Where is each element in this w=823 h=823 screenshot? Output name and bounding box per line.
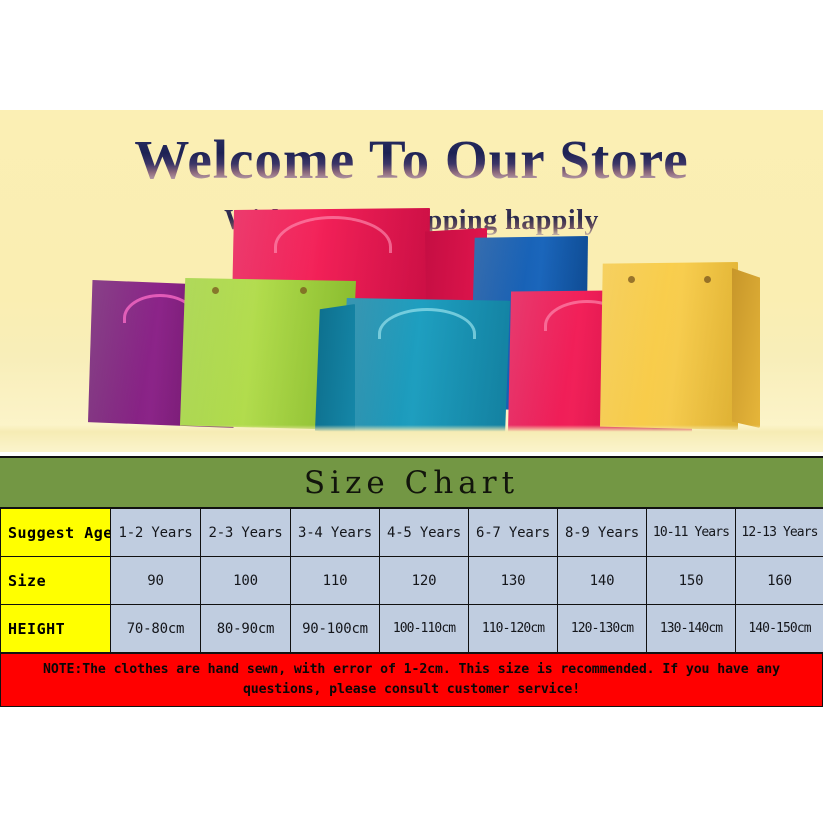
table-row: Suggest Age 1-2 Years 2-3 Years 3-4 Year…	[1, 509, 823, 557]
cell-size-7: 150	[647, 557, 736, 605]
cell-age-8: 12-13 Years	[736, 509, 823, 557]
row-label-size: Size	[1, 557, 111, 605]
cell-height-8: 140-150cm	[736, 605, 823, 653]
banner-title: Welcome To Our Store	[0, 132, 823, 187]
cell-age-5: 6-7 Years	[469, 509, 558, 557]
cell-height-1: 70-80cm	[111, 605, 201, 653]
cell-age-4: 4-5 Years	[380, 509, 469, 557]
cell-height-5: 110-120cm	[469, 605, 558, 653]
cell-age-1: 1-2 Years	[111, 509, 201, 557]
table-row: Size 90 100 110 120 130 140 150 160	[1, 557, 823, 605]
cell-height-3: 90-100cm	[291, 605, 380, 653]
size-chart-header: Size Chart	[0, 456, 823, 508]
yellow-bag-side-panel	[732, 268, 760, 428]
cell-height-7: 130-140cm	[647, 605, 736, 653]
row-label-height: HEIGHT	[1, 605, 111, 653]
cell-size-8: 160	[736, 557, 823, 605]
cell-size-4: 120	[380, 557, 469, 605]
banner-floor	[0, 425, 823, 452]
cell-size-3: 110	[291, 557, 380, 605]
size-chart-page: Welcome To Our Store Wishes your shoppin…	[0, 0, 823, 823]
cell-age-6: 8-9 Years	[558, 509, 647, 557]
cell-size-1: 90	[111, 557, 201, 605]
note-banner: NOTE:The clothes are hand sewn, with err…	[0, 653, 823, 707]
table-row: HEIGHT 70-80cm 80-90cm 90-100cm 100-110c…	[1, 605, 823, 653]
cell-size-6: 140	[558, 557, 647, 605]
cell-age-2: 2-3 Years	[201, 509, 291, 557]
cell-size-2: 100	[201, 557, 291, 605]
size-chart-table: Suggest Age 1-2 Years 2-3 Years 3-4 Year…	[0, 508, 823, 653]
cell-size-5: 130	[469, 557, 558, 605]
row-label-suggest-age: Suggest Age	[1, 509, 111, 557]
cell-age-7: 10-11 Years	[647, 509, 736, 557]
cell-age-3: 3-4 Years	[291, 509, 380, 557]
teal-shopping-bag	[340, 298, 510, 438]
yellow-shopping-bag	[600, 262, 738, 430]
note-text: NOTE:The clothes are hand sewn, with err…	[6, 660, 818, 700]
store-banner: Welcome To Our Store Wishes your shoppin…	[0, 110, 823, 452]
cell-height-6: 120-130cm	[558, 605, 647, 653]
cell-height-2: 80-90cm	[201, 605, 291, 653]
size-chart-title: Size Chart	[0, 458, 823, 508]
cell-height-4: 100-110cm	[380, 605, 469, 653]
teal-bag-side-panel	[315, 304, 355, 436]
